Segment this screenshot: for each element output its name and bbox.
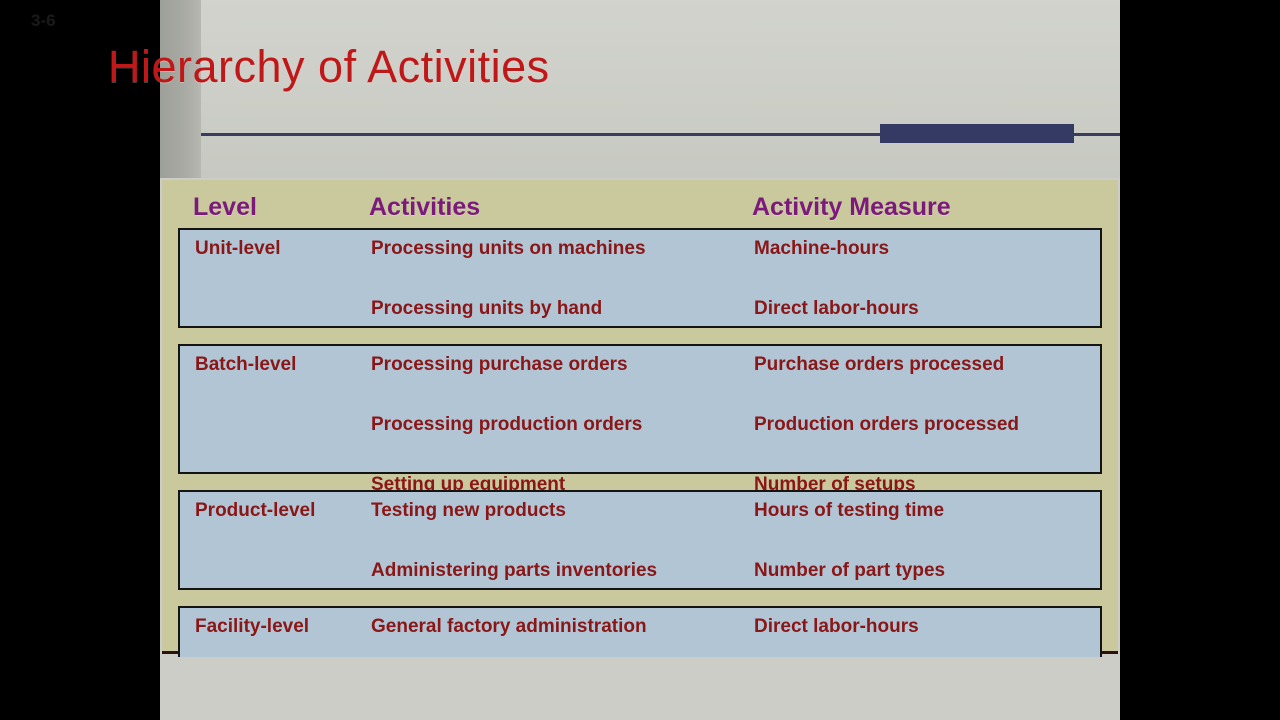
cell-activity: Processing units on machines bbox=[371, 238, 646, 260]
cell-level: Unit-level bbox=[195, 238, 281, 260]
level-group-block: Unit-levelProcessing units on machinesMa… bbox=[178, 228, 1102, 328]
cell-activity: Processing production orders bbox=[371, 414, 642, 436]
level-group-block: Batch-levelProcessing purchase ordersPur… bbox=[178, 344, 1102, 474]
slide-viewport: 3-6 Hierarchy of Activities Level Activi… bbox=[0, 0, 1280, 720]
cell-activity-measure: Machine-hours bbox=[754, 238, 889, 260]
column-header-activity-measure: Activity Measure bbox=[752, 193, 951, 222]
activity-hierarchy-table: Level Activities Activity Measure Unit-l… bbox=[162, 180, 1118, 654]
column-header-level: Level bbox=[193, 193, 257, 222]
cell-activity: Processing purchase orders bbox=[371, 354, 628, 376]
cell-activity-measure: Production orders processed bbox=[754, 414, 1019, 436]
level-group-block: Product-levelTesting new productsHours o… bbox=[178, 490, 1102, 590]
table-row: Facility-levelGeneral factory administra… bbox=[180, 613, 1100, 643]
cell-activity: Administering parts inventories bbox=[371, 560, 657, 582]
table-row: Processing production ordersProduction o… bbox=[180, 411, 1100, 441]
cell-activity-measure: Purchase orders processed bbox=[754, 354, 1004, 376]
table-header-row: Level Activities Activity Measure bbox=[162, 180, 1118, 227]
slide-number: 3-6 bbox=[31, 11, 56, 31]
cell-level: Facility-level bbox=[195, 616, 309, 638]
table-row: Product-levelTesting new productsHours o… bbox=[180, 497, 1100, 527]
cell-level: Batch-level bbox=[195, 354, 296, 376]
title-accent-block bbox=[880, 124, 1074, 143]
cell-level: Product-level bbox=[195, 500, 315, 522]
page-title: Hierarchy of Activities bbox=[108, 41, 550, 93]
cell-activity-measure: Direct labor-hours bbox=[754, 298, 919, 320]
table-row: Processing units by handDirect labor-hou… bbox=[180, 295, 1100, 325]
cell-activity: Processing units by hand bbox=[371, 298, 602, 320]
table-row: Batch-levelProcessing purchase ordersPur… bbox=[180, 351, 1100, 381]
cell-activity: Testing new products bbox=[371, 500, 566, 522]
table-row: Administering parts inventoriesNumber of… bbox=[180, 557, 1100, 587]
cell-activity-measure: Direct labor-hours bbox=[754, 616, 919, 638]
table-row: Unit-levelProcessing units on machinesMa… bbox=[180, 235, 1100, 265]
cell-activity-measure: Hours of testing time bbox=[754, 500, 944, 522]
cell-activity: General factory administration bbox=[371, 616, 647, 638]
cell-activity-measure: Number of part types bbox=[754, 560, 945, 582]
slide-footer-area bbox=[160, 657, 1120, 720]
column-header-activities: Activities bbox=[369, 193, 480, 222]
